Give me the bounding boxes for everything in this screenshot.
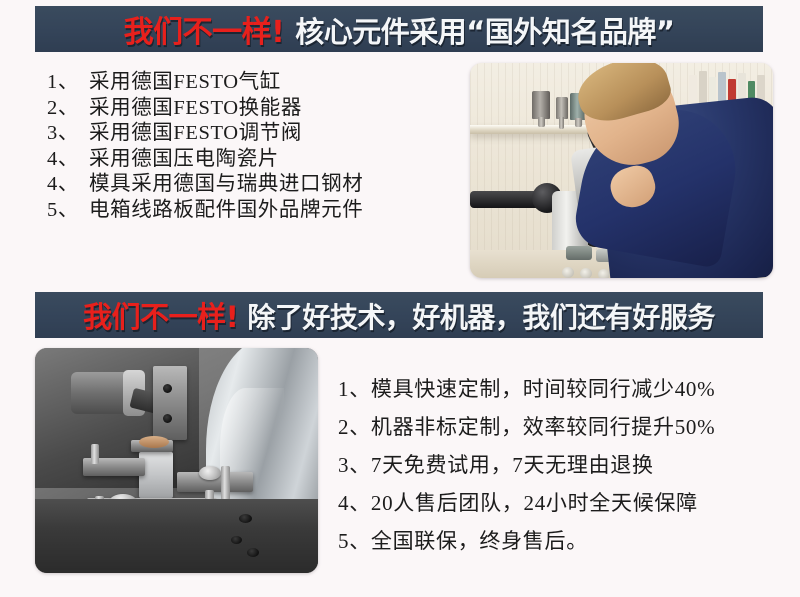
list-item-text: 采用德国FESTO换能器 [89,97,302,119]
list-item-index: 1、 [47,70,89,96]
bench-washer [562,267,574,278]
list-item: 4、20人售后团队，24小时全天候保障 [338,484,788,522]
service-banner-inner: 我们不一样! 除了好技术，好机器，我们还有好服务 [83,294,715,336]
bolt-hole [239,514,252,523]
machine-table [35,499,318,573]
list-item: 2、机器非标定制，效率较同行提升50% [338,408,788,446]
list-item: 4、模具采用德国与瑞典进口钢材 [47,172,467,198]
materials-list: 1、采用德国FESTO气缸 2、采用德国FESTO换能器 3、采用德国FESTO… [47,70,467,223]
list-item-index: 3、 [47,121,89,147]
list-item-index: 4、 [338,484,371,522]
dowel-pin [221,466,230,500]
bolt-hole [231,536,242,544]
mounting-bracket [153,366,187,440]
list-item-text: 采用德国FESTO调节阀 [89,122,302,144]
list-item-index: 2、 [47,96,89,122]
list-item: 1、采用德国FESTO气缸 [47,70,467,96]
list-item-text: 采用德国压电陶瓷片 [89,148,279,170]
service-banner-highlight: 我们不一样! [83,294,238,336]
tool-holder [532,91,550,119]
dowel-pin [91,444,99,464]
list-item-text: 20人售后团队，24小时全天候保障 [371,491,698,515]
bench-component [566,246,592,260]
materials-banner: 我们不一样! 核心元件采用“国外知名品牌” [35,6,763,52]
washer [199,466,221,480]
list-item: 4、采用德国压电陶瓷片 [47,147,467,173]
materials-banner-inner: 我们不一样! 核心元件采用“国外知名品牌” [124,7,675,51]
list-item: 2、采用德国FESTO换能器 [47,96,467,122]
copper-workpiece [139,436,169,448]
list-item-index: 4、 [47,172,89,198]
bolt-hole [163,384,172,393]
list-item-index: 3、 [338,446,371,484]
list-item-index: 2、 [338,408,371,446]
list-item-text: 机器非标定制，效率较同行提升50% [371,415,715,439]
list-item-index: 5、 [47,198,89,224]
list-item: 5、全国联保，终身售后。 [338,522,788,560]
service-banner-title: 除了好技术，好机器，我们还有好服务 [247,296,715,336]
list-item: 1、模具快速定制，时间较同行减少40% [338,370,788,408]
list-item: 5、电箱线路板配件国外品牌元件 [47,198,467,224]
microscope-inspection-photo [470,63,773,278]
materials-banner-title: 核心元件采用“国外知名品牌” [295,9,674,51]
list-item-text: 模具快速定制，时间较同行减少40% [371,377,715,401]
bolt-hole [163,414,172,423]
precision-tooling-photo [35,348,318,573]
bench-washer [598,269,610,278]
marketing-page: 我们不一样! 核心元件采用“国外知名品牌” 1、采用德国FESTO气缸 2、采用… [0,0,800,597]
service-list: 1、模具快速定制，时间较同行减少40% 2、机器非标定制，效率较同行提升50% … [338,370,788,560]
list-item-text: 7天免费试用，7天无理由退换 [371,453,654,477]
list-item-index: 4、 [47,147,89,173]
list-item: 3、7天免费试用，7天无理由退换 [338,446,788,484]
list-item-text: 模具采用德国与瑞典进口钢材 [89,173,363,195]
list-item-index: 1、 [338,370,371,408]
list-item-index: 5、 [338,522,371,560]
materials-banner-highlight: 我们不一样! [124,7,285,51]
list-item-text: 全国联保，终身售后。 [371,529,588,553]
service-banner: 我们不一样! 除了好技术，好机器，我们还有好服务 [35,292,763,338]
list-item-text: 采用德国FESTO气缸 [89,71,281,93]
tool-shank [575,118,582,127]
list-item-text: 电箱线路板配件国外品牌元件 [89,199,363,221]
tool-shank [559,117,564,129]
bench-washer [580,268,592,278]
bolt-hole [247,548,259,557]
tool-holder [556,97,568,119]
tool-shank [538,117,545,127]
list-item: 3、采用德国FESTO调节阀 [47,121,467,147]
